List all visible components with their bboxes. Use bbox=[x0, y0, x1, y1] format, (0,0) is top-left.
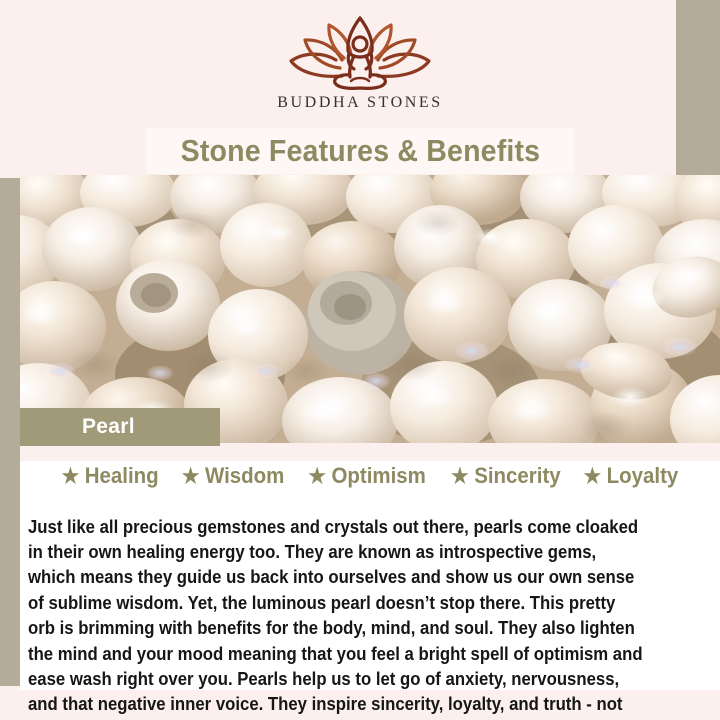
page-title: Stone Features & Benefits bbox=[180, 133, 540, 169]
lotus-meditation-icon bbox=[0, 14, 720, 92]
star-icon: ★ bbox=[584, 466, 602, 487]
star-icon: ★ bbox=[61, 466, 79, 487]
brand-name: BUDDHA STONES bbox=[0, 94, 720, 112]
keyword-label: Optimism bbox=[332, 463, 426, 489]
star-icon: ★ bbox=[309, 466, 327, 487]
star-icon: ★ bbox=[451, 466, 469, 487]
keyword-healing: ★ Healing bbox=[61, 463, 158, 489]
keyword-wisdom: ★ Wisdom bbox=[182, 463, 284, 489]
keyword-label: Sincerity bbox=[474, 463, 560, 489]
stone-label-bar: Pearl bbox=[20, 408, 220, 446]
brand-logo: BUDDHA STONES bbox=[0, 14, 720, 112]
pearl-photo bbox=[20, 175, 720, 443]
section-title-banner: Stone Features & Benefits bbox=[146, 128, 574, 174]
benefits-card: ★ Healing ★ Wisdom ★ Optimism ★ Sincerit… bbox=[20, 443, 720, 690]
keyword-optimism: ★ Optimism bbox=[309, 463, 426, 489]
keyword-label: Wisdom bbox=[205, 463, 284, 489]
keyword-loyalty: ★ Loyalty bbox=[584, 463, 679, 489]
stone-name: Pearl bbox=[82, 415, 135, 439]
description-text: Just like all precious gemstones and cry… bbox=[28, 514, 645, 720]
star-icon: ★ bbox=[182, 466, 200, 487]
keyword-sincerity: ★ Sincerity bbox=[451, 463, 561, 489]
keyword-label: Loyalty bbox=[607, 463, 679, 489]
infographic-canvas: BUDDHA STONES Stone Features & Benefits bbox=[0, 0, 720, 720]
keyword-label: Healing bbox=[85, 463, 159, 489]
benefit-keywords: ★ Healing ★ Wisdom ★ Optimism ★ Sincerit… bbox=[20, 463, 720, 489]
